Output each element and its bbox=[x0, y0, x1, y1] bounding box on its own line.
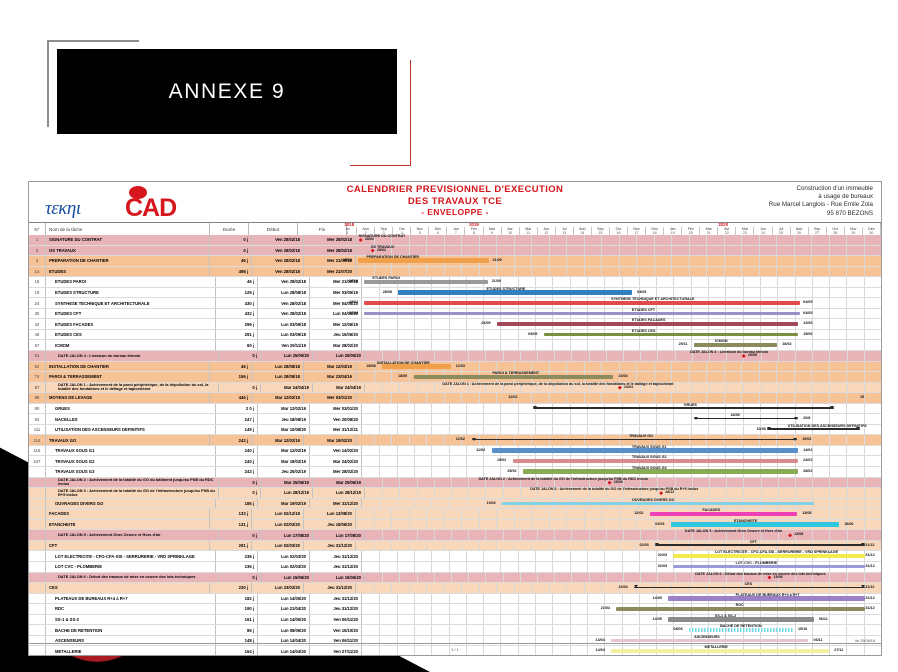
gantt-edge-date: 19/02 bbox=[497, 458, 506, 462]
gantt-edge-date: 06/11 bbox=[819, 617, 828, 621]
row-duration: 2 0 j bbox=[216, 404, 258, 414]
timeline-month-cell: Déc6 bbox=[429, 227, 447, 236]
gantt-bar[interactable] bbox=[523, 469, 798, 474]
timeline-month-cell: Mai11 bbox=[520, 227, 538, 236]
gantt-gridlines bbox=[365, 351, 881, 361]
row-task-name: ETUDES CFT bbox=[46, 309, 216, 319]
row-start-date: Lun 28/08/18 bbox=[258, 288, 310, 298]
gantt-edge-date: 18/06 bbox=[844, 522, 853, 526]
table-row[interactable]: 90GRUES2 0 jMar 12/02/19Mer 03/01/20GRUE… bbox=[29, 404, 881, 415]
gantt-milestone-icon[interactable] bbox=[371, 249, 375, 253]
gantt-bar[interactable] bbox=[398, 290, 632, 295]
row-duration: 0 j bbox=[219, 488, 261, 498]
row-start-date: Lun 02/03/20 bbox=[252, 541, 304, 551]
table-row[interactable]: 61DATE JALON 4 : Livraison du bureau tém… bbox=[29, 351, 881, 362]
row-start-date: Mar 19/02/19 bbox=[258, 456, 310, 466]
row-task-name: ETUDES bbox=[46, 267, 210, 277]
row-end-date: Lun 15/06/20 bbox=[313, 573, 365, 583]
row-end-date: Mar 28/02/20 bbox=[310, 340, 362, 350]
gantt-gridlines bbox=[356, 246, 881, 256]
gantt-edge-date: 21/04 bbox=[601, 606, 610, 610]
row-duration: 60 j bbox=[216, 340, 258, 350]
gantt-edge-date: 31/12 bbox=[865, 564, 874, 568]
gantt-milestone-icon[interactable] bbox=[742, 354, 746, 358]
row-end-date: Ven 20/08/20 bbox=[310, 414, 362, 424]
row-task-name: PAROI & TERRASSEMENT bbox=[46, 372, 210, 382]
gantt-bar-label: ASCENSEURS bbox=[694, 635, 720, 639]
timeline-year-label: 2019 bbox=[469, 222, 479, 227]
row-gantt-lane: BACHE DE RETENTION08/0615/10 bbox=[362, 625, 881, 635]
gantt-edge-date: 12/02 bbox=[508, 395, 517, 399]
row-start-date: Mar 12/02/19 bbox=[252, 393, 304, 403]
gantt-bar[interactable] bbox=[671, 522, 839, 527]
row-start-date: Lun 03/09/18 bbox=[258, 319, 310, 329]
gantt-edge-date: 12/02 bbox=[634, 511, 643, 515]
row-gantt-lane: ETUDES PAROI28/0221/09 bbox=[362, 277, 881, 287]
annexe-title-block: ANNEXE 9 bbox=[47, 40, 407, 145]
title-line-1: CALENDRIER PREVISIONNEL D'EXECUTION bbox=[29, 184, 881, 196]
row-task-name: GRUES bbox=[46, 404, 216, 414]
gantt-edge-date: 13/08 bbox=[802, 511, 811, 515]
row-gantt-lane: LOT ELECTRICITE - CFO-CFA-SSI - SERRURER… bbox=[362, 551, 881, 561]
gantt-bar-label: SS-1 & SS-2 bbox=[715, 614, 736, 618]
timeline-month-cell: Nov17 bbox=[628, 227, 646, 236]
row-task-name: ETANCHEITE bbox=[46, 520, 210, 530]
row-gantt-lane: GRUES bbox=[362, 404, 881, 414]
gantt-bar-label: ETUDES PAROI bbox=[372, 276, 399, 280]
table-row[interactable]: 87DATE JALON 1 : Achèvement de la paroi … bbox=[29, 383, 881, 394]
row-task-name: ETUDES CES bbox=[46, 330, 216, 340]
gantt-bar-label: OUVRAGES DIVERS GO bbox=[632, 498, 675, 502]
row-duration: 247 j bbox=[216, 414, 258, 424]
row-start-date: Mar 25/06/19 bbox=[261, 478, 313, 488]
table-row[interactable]: DATE JALON 3 : Achèvement de la totalité… bbox=[29, 488, 881, 499]
row-start-date: Ven 28/02/18 bbox=[258, 298, 310, 308]
gantt-bar[interactable] bbox=[650, 512, 797, 517]
gantt-bar-label: ETUDES FACADES bbox=[632, 318, 666, 322]
row-start-date: Mar 19/02/19 bbox=[258, 499, 310, 509]
document-title: CALENDRIER PREVISIONNEL D'EXECUTION DES … bbox=[29, 184, 881, 219]
row-gantt-lane: ETUDES CES03/0915/06 bbox=[362, 330, 881, 340]
row-start-date: Lun 02/03/20 bbox=[252, 520, 304, 530]
row-duration: 243 j bbox=[216, 467, 258, 477]
row-end-date: Mar 25/06/19 bbox=[313, 478, 365, 488]
row-end-date: Ven 06/11/20 bbox=[310, 615, 362, 625]
gantt-gridlines bbox=[362, 340, 881, 350]
gantt-milestone-date: 28/12 bbox=[665, 490, 674, 494]
gantt-edge-date: 31/12 bbox=[865, 553, 874, 557]
gantt-milestone-date: 25/06 bbox=[614, 480, 623, 484]
row-task-name: DATE JALON 4 : Livraison du bureau témoi… bbox=[46, 351, 219, 361]
timeline-month-cell: Jul13 bbox=[556, 227, 574, 236]
gantt-bar-label: GRUES bbox=[684, 403, 697, 407]
row-number bbox=[29, 625, 46, 635]
gantt-bar[interactable] bbox=[668, 617, 813, 622]
timeline-month-cell: Mar21 bbox=[700, 227, 718, 236]
row-duration: 46 j bbox=[210, 256, 252, 266]
timeline-year-label: 2020 bbox=[718, 222, 728, 227]
timeline-header: 201820192020 Jui1Aoû2Sep3Oct4Nov5Déc6Jan… bbox=[339, 222, 881, 235]
row-gantt-lane: TRAVAUX SOUS G219/0224/02 bbox=[362, 456, 881, 466]
row-task-name: SS-1 & SS-2 bbox=[46, 615, 216, 625]
gantt-edge-date: 15/10 bbox=[798, 627, 807, 631]
table-row[interactable]: TRAVAUX SOUS G3243 jJeu 25/02/19Mer 28/0… bbox=[29, 467, 881, 478]
gantt-edge-date: 28/02 bbox=[343, 258, 352, 262]
row-number bbox=[29, 594, 46, 604]
table-row[interactable]: 92NACELLES247 jJeu 18/08/19Ven 20/08/201… bbox=[29, 414, 881, 425]
row-task-name: INSTALLATION DE CHANTIER bbox=[46, 362, 210, 372]
gantt-bar[interactable] bbox=[694, 343, 777, 346]
table-row[interactable]: 42ETUDES FACADES296 jLun 03/09/18Mer 12/… bbox=[29, 319, 881, 330]
timeline-month-cell: Nov29 bbox=[845, 227, 863, 236]
row-end-date: Mer 03/01/20 bbox=[304, 393, 356, 403]
row-task-name: TRAVAUX GO bbox=[46, 435, 210, 445]
gantt-edge-date: 31/12 bbox=[865, 543, 874, 547]
gantt-bar[interactable] bbox=[673, 554, 865, 557]
row-number: 3 bbox=[29, 256, 46, 266]
timeline-month-row: Jui1Aoû2Sep3Oct4Nov5Déc6Jan7Fév8Mar9Avr1… bbox=[339, 227, 881, 236]
row-duration: 133 j bbox=[210, 509, 252, 519]
row-duration: 0 j bbox=[219, 478, 261, 488]
gantt-bar[interactable] bbox=[611, 639, 808, 642]
row-duration: 0 j bbox=[210, 246, 252, 256]
row-duration: 0 j bbox=[219, 530, 261, 540]
row-end-date: Jeu 31/12/20 bbox=[304, 583, 356, 593]
row-duration: 291 j bbox=[210, 541, 252, 551]
row-gantt-lane bbox=[356, 267, 881, 277]
gantt-edge-date: 02/03 bbox=[655, 522, 664, 526]
row-gantt-lane: OS TRAVAUX28/02 bbox=[356, 246, 881, 256]
gantt-bar[interactable] bbox=[364, 301, 800, 304]
table-row[interactable]: PLATEAUX DE BUREAUX R+4 à R+7182 jLun 14… bbox=[29, 594, 881, 605]
row-gantt-lane: FACADES12/0213/08 bbox=[356, 509, 881, 519]
row-task-name: PLATEAUX DE BUREAUX R+4 à R+7 bbox=[46, 594, 216, 604]
timeline-month-cell: Avr22 bbox=[718, 227, 736, 236]
gantt-bar[interactable] bbox=[668, 596, 865, 601]
timeline-month-cell: Nov5 bbox=[411, 227, 429, 236]
table-row[interactable]: DATE JALON 6 : Début des travaux de mise… bbox=[29, 573, 881, 584]
gantt-edge-date: 14/02 bbox=[803, 448, 812, 452]
row-duration: 430 j bbox=[216, 298, 258, 308]
row-end-date: Mer 31/12/21 bbox=[310, 425, 362, 435]
gantt-bar-label: FACADES bbox=[703, 508, 721, 512]
row-task-name: ICMOM bbox=[46, 340, 216, 350]
row-gantt-lane: 18/3520/8 bbox=[362, 414, 881, 424]
table-row[interactable]: RDC190 jLun 21/04/20Jeu 31/12/20RDC21/04… bbox=[29, 604, 881, 615]
timeline-year-row: 201820192020 bbox=[339, 222, 881, 227]
gantt-edge-date: 03/09 bbox=[528, 332, 537, 336]
document-header: τεκηι CAD CALENDRIER PREVISIONNEL D'EXEC… bbox=[29, 182, 881, 222]
timeline-month-cell: Jun12 bbox=[538, 227, 556, 236]
project-address: Construction d'un immeuble à usage de bu… bbox=[769, 185, 873, 218]
gantt-bar[interactable] bbox=[358, 258, 489, 263]
row-gantt-lane: SYNTHESE TECHNIQUE ET ARCHITECTURALE28/0… bbox=[362, 298, 881, 308]
row-start-date: Mar 10/08/20 bbox=[258, 425, 310, 435]
gantt-bar[interactable] bbox=[364, 312, 800, 315]
gantt-gridlines bbox=[365, 530, 881, 540]
gantt-bar-label: ETUDES STRUCTURE bbox=[487, 287, 526, 291]
gantt-bar[interactable] bbox=[472, 439, 798, 440]
row-duration: 186 j bbox=[216, 499, 258, 509]
table-row[interactable]: DATE JALON 2 : Achèvement de la totalité… bbox=[29, 478, 881, 489]
gantt-bar[interactable] bbox=[502, 502, 813, 505]
row-gantt-lane: CFT02/0331/12 bbox=[356, 541, 881, 551]
table-row[interactable]: 14ETUDES498 jVen 28/02/18Mer 21/07/20 bbox=[29, 267, 881, 278]
row-duration: 236 j bbox=[216, 562, 258, 572]
gantt-edge-date: 03/05 bbox=[637, 290, 646, 294]
table-row[interactable]: 19ETUDES STRUCTURE125 jLun 28/08/18Mer 0… bbox=[29, 288, 881, 299]
row-end-date: Mer 28/02/20 bbox=[310, 467, 362, 477]
row-gantt-lane: 12/0215 bbox=[356, 393, 881, 403]
row-number: 2 bbox=[29, 246, 46, 256]
gantt-bar-label: TRAVAUX SOUS G3 bbox=[632, 466, 667, 470]
gantt-bar[interactable] bbox=[544, 333, 798, 336]
row-duration: 296 j bbox=[216, 319, 258, 329]
row-end-date: Mar 24/02/20 bbox=[310, 456, 362, 466]
row-start-date: Lun 14/05/20 bbox=[258, 594, 310, 604]
gantt-milestone-icon[interactable] bbox=[659, 491, 663, 495]
table-row[interactable]: 88MOYENS DE LEVAGE446 jMar 12/02/19Mer 0… bbox=[29, 393, 881, 404]
gantt-edge-date: 04/05 bbox=[803, 300, 812, 304]
table-row[interactable]: 24SYNTHESE TECHNIQUE ET ARCHITECTURALE43… bbox=[29, 298, 881, 309]
row-start-date: Mar 12/02/19 bbox=[258, 404, 310, 414]
gantt-edge-date: 20/8 bbox=[803, 416, 810, 420]
gantt-bar[interactable] bbox=[513, 459, 798, 464]
table-row[interactable]: 114TRAVAUX GO242 jMar 12/02/19Mar 19/02/… bbox=[29, 435, 881, 446]
row-task-name: BACHE DE RETENTION bbox=[46, 625, 216, 635]
row-number bbox=[29, 467, 46, 477]
row-end-date: Mer 03/05/19 bbox=[310, 288, 362, 298]
table-row[interactable]: 3PREPARATION DE CHANTIER46 jVen 28/02/18… bbox=[29, 256, 881, 267]
gantt-milestone-icon[interactable] bbox=[767, 576, 771, 580]
row-duration: 125 j bbox=[216, 288, 258, 298]
gantt-edge-date: 19/02 bbox=[487, 501, 496, 505]
gantt-edge-date: 08/06 bbox=[673, 627, 682, 631]
gantt-edge-date: 28/02 bbox=[349, 279, 358, 283]
table-row[interactable]: 111UTILISATION DES ASCENSEURS DEFINITIFS… bbox=[29, 425, 881, 436]
gantt-edge-date: 29/11 bbox=[679, 342, 688, 346]
row-task-name: DATE JALON 6 : Début des travaux de mise… bbox=[46, 573, 219, 583]
document-footer: 1 / 1 bbox=[29, 643, 881, 654]
row-gantt-lane: PAROI & TERRASSEMENT18/0923/04 bbox=[356, 372, 881, 382]
row-start-date: Ven 28/02/18 bbox=[252, 267, 304, 277]
table-row[interactable]: 15ETUDES PAROI46 jVen 28/02/18Mer 21/09/… bbox=[29, 277, 881, 288]
row-duration: 0 j bbox=[219, 573, 261, 583]
gantt-edge-date: 14/04 bbox=[596, 638, 605, 642]
row-gantt-lane: TRAVAUX SOUS G111/0214/02 bbox=[362, 446, 881, 456]
gantt-bar-label: TRAVAUX SOUS G1 bbox=[632, 445, 667, 449]
row-number: 46 bbox=[29, 330, 46, 340]
row-gantt-lane: ETANCHEITE02/0318/06 bbox=[356, 520, 881, 530]
gantt-bar[interactable] bbox=[673, 565, 865, 568]
row-gantt-lane: SIGNATURE DU CONTRAT28/02 bbox=[356, 235, 881, 245]
timeline-year-label: 2018 bbox=[344, 222, 354, 227]
gantt-gridlines bbox=[356, 393, 881, 403]
gantt-edge-date: 28/02 bbox=[803, 469, 812, 473]
address-line-3: Rue Marcel Langlois - Rue Emile Zola bbox=[769, 201, 873, 209]
row-duration: 182 j bbox=[216, 594, 258, 604]
gantt-bar-label: DATE JALON 6 : Début des travaux de mise… bbox=[695, 572, 825, 576]
gantt-edge-date: 15/06 bbox=[803, 332, 812, 336]
gantt-bar[interactable] bbox=[497, 322, 798, 325]
row-task-name: CFT bbox=[46, 541, 210, 551]
address-line-4: 95 870 BEZONS bbox=[769, 210, 873, 218]
gantt-milestone-date: 15/06 bbox=[774, 575, 783, 579]
timeline-month-cell: Jan19 bbox=[664, 227, 682, 236]
gantt-bar[interactable] bbox=[616, 607, 865, 612]
row-duration: 131 j bbox=[210, 520, 252, 530]
row-task-name: ETUDES PAROI bbox=[46, 277, 216, 287]
gantt-bar[interactable] bbox=[533, 407, 834, 408]
row-task-name: PREPARATION DE CHANTIER bbox=[46, 256, 210, 266]
row-number bbox=[29, 583, 46, 593]
gantt-bar-label: ETUDES CFT bbox=[632, 308, 655, 312]
gantt-edge-date: 11/02 bbox=[476, 448, 485, 452]
row-gantt-lane: DATE JALON 4 : Livraison du bureau témoi… bbox=[365, 351, 881, 361]
gantt-edge-date: 23/04 bbox=[619, 374, 628, 378]
row-end-date: Lun 25/05/20 bbox=[313, 351, 365, 361]
gantt-milestone-icon[interactable] bbox=[359, 238, 363, 242]
row-gantt-lane: PLATEAUX DE BUREAUX R+4 à R+714/0531/12 bbox=[362, 594, 881, 604]
row-start-date: Jeu 25/02/19 bbox=[258, 467, 310, 477]
gantt-edge-date: 21/09 bbox=[492, 279, 501, 283]
row-duration: 498 j bbox=[210, 267, 252, 277]
row-duration: 240 j bbox=[216, 446, 258, 456]
row-end-date: Mar 24/04/19 bbox=[313, 383, 365, 393]
row-task-name: CES bbox=[46, 583, 210, 593]
row-duration: 0 j bbox=[210, 235, 252, 245]
table-row[interactable]: BACHE DE RETENTION86 jLun 08/06/20Ven 15… bbox=[29, 625, 881, 636]
row-start-date: Mar 24/04/19 bbox=[261, 383, 313, 393]
gantt-bar[interactable] bbox=[492, 448, 798, 453]
timeline-month-cell: Mai23 bbox=[736, 227, 754, 236]
row-task-name: RDC bbox=[46, 604, 216, 614]
gantt-edge-date: 02/03 bbox=[640, 543, 649, 547]
row-number: 115 bbox=[29, 446, 46, 456]
row-number bbox=[29, 551, 46, 561]
address-line-2: à usage de bureaux bbox=[769, 193, 873, 201]
gantt-bar[interactable] bbox=[364, 280, 489, 283]
row-task-name: TRAVAUX SOUS G2 bbox=[46, 456, 216, 466]
table-row[interactable]: 115TRAVAUX SOUS G1240 jMar 12/02/19Ven 1… bbox=[29, 446, 881, 457]
gantt-bar[interactable] bbox=[382, 364, 450, 369]
gantt-bar-label: INSTALLATION DE CHANTIER bbox=[377, 361, 430, 365]
gantt-edge-date: 19/02 bbox=[802, 437, 811, 441]
row-start-date: Lun 21/04/20 bbox=[258, 604, 310, 614]
row-number bbox=[29, 541, 46, 551]
timeline-month-cell: Aoû26 bbox=[791, 227, 809, 236]
row-end-date: Jeu 31/12/20 bbox=[304, 541, 356, 551]
row-start-date: Jeu 18/08/19 bbox=[258, 414, 310, 424]
address-line-1: Construction d'un immeuble bbox=[769, 185, 873, 193]
row-gantt-lane: DATE JALON 5 : Achèvement Gros Oeuvre et… bbox=[365, 530, 881, 540]
annexe-box: ANNEXE 9 bbox=[57, 49, 397, 134]
row-start-date: Lun 25/05/20 bbox=[261, 351, 313, 361]
row-start-date: Mar 12/02/19 bbox=[258, 446, 310, 456]
row-start-date: Lun 28/08/18 bbox=[252, 362, 304, 372]
gantt-edge-date: 02/03 bbox=[658, 564, 667, 568]
gantt-edge-date: 28/08 bbox=[383, 290, 392, 294]
gantt-milestone-icon[interactable] bbox=[618, 386, 622, 390]
gantt-edge-date: 06/11 bbox=[814, 638, 823, 642]
row-start-date: Ven 28/02/18 bbox=[252, 256, 304, 266]
row-number: 62 bbox=[29, 362, 46, 372]
gantt-edge-date: 12/06 bbox=[803, 321, 812, 325]
row-gantt-lane: PREPARATION DE CHANTIER28/0221/09 bbox=[356, 256, 881, 266]
table-row[interactable]: 1SIGNATURE DU CONTRAT0 jVen 28/02/18Mer … bbox=[29, 235, 881, 246]
row-task-name: NACELLES bbox=[46, 414, 216, 424]
gantt-bar-label: DATE JALON 1 : Achèvement de la paroi pé… bbox=[442, 382, 673, 386]
gantt-edge-date: 28/08 bbox=[367, 364, 376, 368]
row-duration: 46 j bbox=[216, 277, 258, 287]
row-number bbox=[29, 573, 46, 583]
row-start-date: Lun 08/06/20 bbox=[258, 625, 310, 635]
gantt-bar[interactable] bbox=[414, 375, 614, 380]
row-start-date: Ven 28/02/18 bbox=[252, 235, 304, 245]
table-row[interactable]: 46ETUDES CES291 jLun 03/09/18Jeu 15/06/2… bbox=[29, 330, 881, 341]
gantt-bar[interactable] bbox=[655, 544, 865, 545]
gantt-bar[interactable] bbox=[767, 428, 860, 429]
gantt-bar-label: PREPARATION DE CHANTIER bbox=[367, 255, 420, 259]
title-line-3: - ENVELOPPE - bbox=[29, 207, 881, 219]
gantt-edge-date: 23/04 bbox=[619, 585, 628, 589]
gantt-edge-date: 03/09 bbox=[481, 321, 490, 325]
gantt-edge-date: 24/02 bbox=[803, 458, 812, 462]
table-row[interactable]: 2OS TRAVAUX0 jVen 28/02/18Mer 28/02/18OS… bbox=[29, 246, 881, 257]
row-number bbox=[29, 562, 46, 572]
page-number: 1 / 1 bbox=[451, 647, 459, 652]
table-row[interactable]: 30ETUDES CFT432 jVen 28/02/18Lun 04/05/2… bbox=[29, 309, 881, 320]
gantt-edge-date: 12/02 bbox=[456, 437, 465, 441]
row-gantt-lane: ETUDES STRUCTURE28/0803/05 bbox=[362, 288, 881, 298]
row-task-name: LOT ELECTRICITE - CFO-CFA-SSI - SERRURER… bbox=[46, 551, 216, 561]
row-gantt-lane: TRAVAUX SOUS G325/0228/02 bbox=[362, 467, 881, 477]
timeline-month-cell: Oct16 bbox=[610, 227, 628, 236]
timeline-month-cell: Jul25 bbox=[773, 227, 791, 236]
row-number bbox=[29, 509, 46, 519]
row-number: 24 bbox=[29, 298, 46, 308]
gantt-bar[interactable] bbox=[694, 418, 798, 419]
gantt-edge-date: 14/05 bbox=[653, 596, 662, 600]
timeline-month-cell: Déc30 bbox=[863, 227, 881, 236]
row-start-date: Lun 17/08/20 bbox=[261, 530, 313, 540]
row-end-date: Mer 31/12/20 bbox=[310, 499, 362, 509]
table-row[interactable]: 247TRAVAUX SOUS G2240 jMar 19/02/19Mar 2… bbox=[29, 456, 881, 467]
row-number bbox=[29, 615, 46, 625]
gantt-edge-date: 28/02 bbox=[349, 311, 358, 315]
gantt-milestone-icon[interactable] bbox=[788, 533, 792, 537]
table-row[interactable]: 62INSTALLATION DE CHANTIER46 jLun 28/08/… bbox=[29, 362, 881, 373]
row-gantt-lane: OUVRAGES DIVERS GO19/02 bbox=[362, 499, 881, 509]
row-task-name: DATE JALON 1 : Achèvement de la paroi pé… bbox=[46, 383, 219, 393]
row-gantt-lane: DATE JALON 3 : Achèvement de la totalité… bbox=[365, 488, 881, 498]
row-duration: 446 j bbox=[210, 393, 252, 403]
timeline-month-cell: Aoû14 bbox=[574, 227, 592, 236]
gantt-edge-date: 28/02 bbox=[349, 300, 358, 304]
row-gantt-lane: LOT CVC - PLOMBERIE02/0331/12 bbox=[362, 562, 881, 572]
gantt-bar-label: ETUDES CES bbox=[632, 329, 656, 333]
table-row[interactable]: OUVRAGES DIVERS GO186 jMar 19/02/19Mer 3… bbox=[29, 499, 881, 510]
timeline-month-cell: Jui1 bbox=[339, 227, 357, 236]
row-number: 74 bbox=[29, 372, 46, 382]
row-duration: 190 j bbox=[216, 604, 258, 614]
gantt-bar[interactable] bbox=[689, 628, 793, 631]
gantt-milestone-icon[interactable] bbox=[608, 481, 612, 485]
row-duration: 46 j bbox=[210, 362, 252, 372]
gantt-bar[interactable] bbox=[634, 587, 865, 588]
row-end-date: Mer 12/06/19 bbox=[310, 319, 362, 329]
row-number: 61 bbox=[29, 351, 46, 361]
